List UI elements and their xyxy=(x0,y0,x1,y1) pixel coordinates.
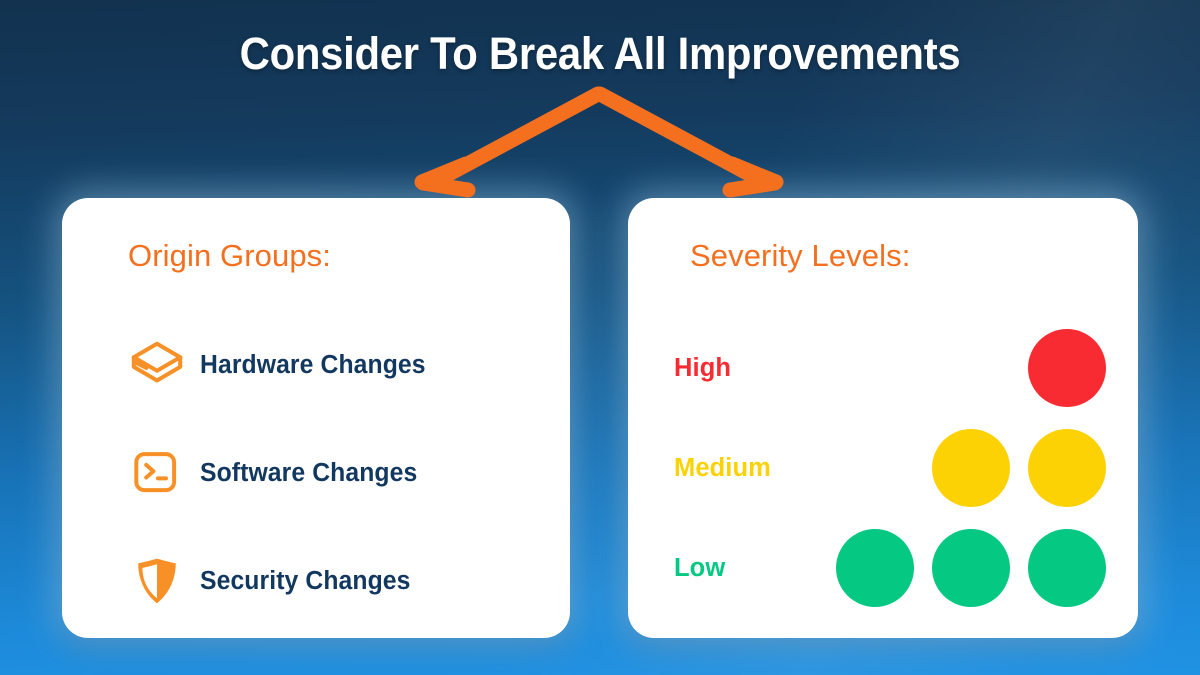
severity-dot xyxy=(1028,529,1106,607)
origin-groups-list: Hardware Changes Software Changes xyxy=(114,326,544,620)
status-badge-medium: Medium xyxy=(674,454,826,483)
severity-dots-high xyxy=(826,329,1110,407)
severity-row-medium[interactable]: Medium xyxy=(674,418,1110,518)
list-item-label: Hardware Changes xyxy=(200,351,426,380)
severity-dots-low xyxy=(826,529,1110,607)
status-badge-low: Low xyxy=(674,554,826,583)
branching-arrows xyxy=(390,78,810,203)
severity-row-low[interactable]: Low xyxy=(674,518,1110,618)
list-item[interactable]: Hardware Changes xyxy=(114,326,544,404)
list-item-label: Security Changes xyxy=(200,567,411,596)
severity-dot xyxy=(1028,329,1106,407)
severity-levels-heading: Severity Levels: xyxy=(690,238,910,274)
severity-dot xyxy=(932,529,1010,607)
severity-dot xyxy=(932,429,1010,507)
shield-icon xyxy=(114,553,200,609)
severity-levels-card: Severity Levels: High Medium Low xyxy=(628,198,1138,638)
severity-dot xyxy=(836,529,914,607)
arrow-left-head xyxy=(422,164,468,190)
list-item-label: Software Changes xyxy=(200,459,417,488)
origin-groups-card: Origin Groups: Hardware Changes xyxy=(62,198,570,638)
severity-levels-list: High Medium Low xyxy=(674,318,1110,618)
severity-dots-medium xyxy=(826,429,1110,507)
slide-canvas: Consider To Break All Improvements Origi… xyxy=(0,0,1200,675)
status-badge-high: High xyxy=(674,354,826,383)
arrow-right-head xyxy=(730,164,776,190)
page-title: Consider To Break All Improvements xyxy=(42,28,1158,80)
severity-dot xyxy=(1028,429,1106,507)
list-item[interactable]: Software Changes xyxy=(114,434,544,512)
terminal-prompt-icon xyxy=(114,446,200,500)
list-item[interactable]: Security Changes xyxy=(114,542,544,620)
origin-groups-heading: Origin Groups: xyxy=(128,238,331,274)
severity-row-high[interactable]: High xyxy=(674,318,1110,418)
hardware-box-icon xyxy=(114,336,200,394)
